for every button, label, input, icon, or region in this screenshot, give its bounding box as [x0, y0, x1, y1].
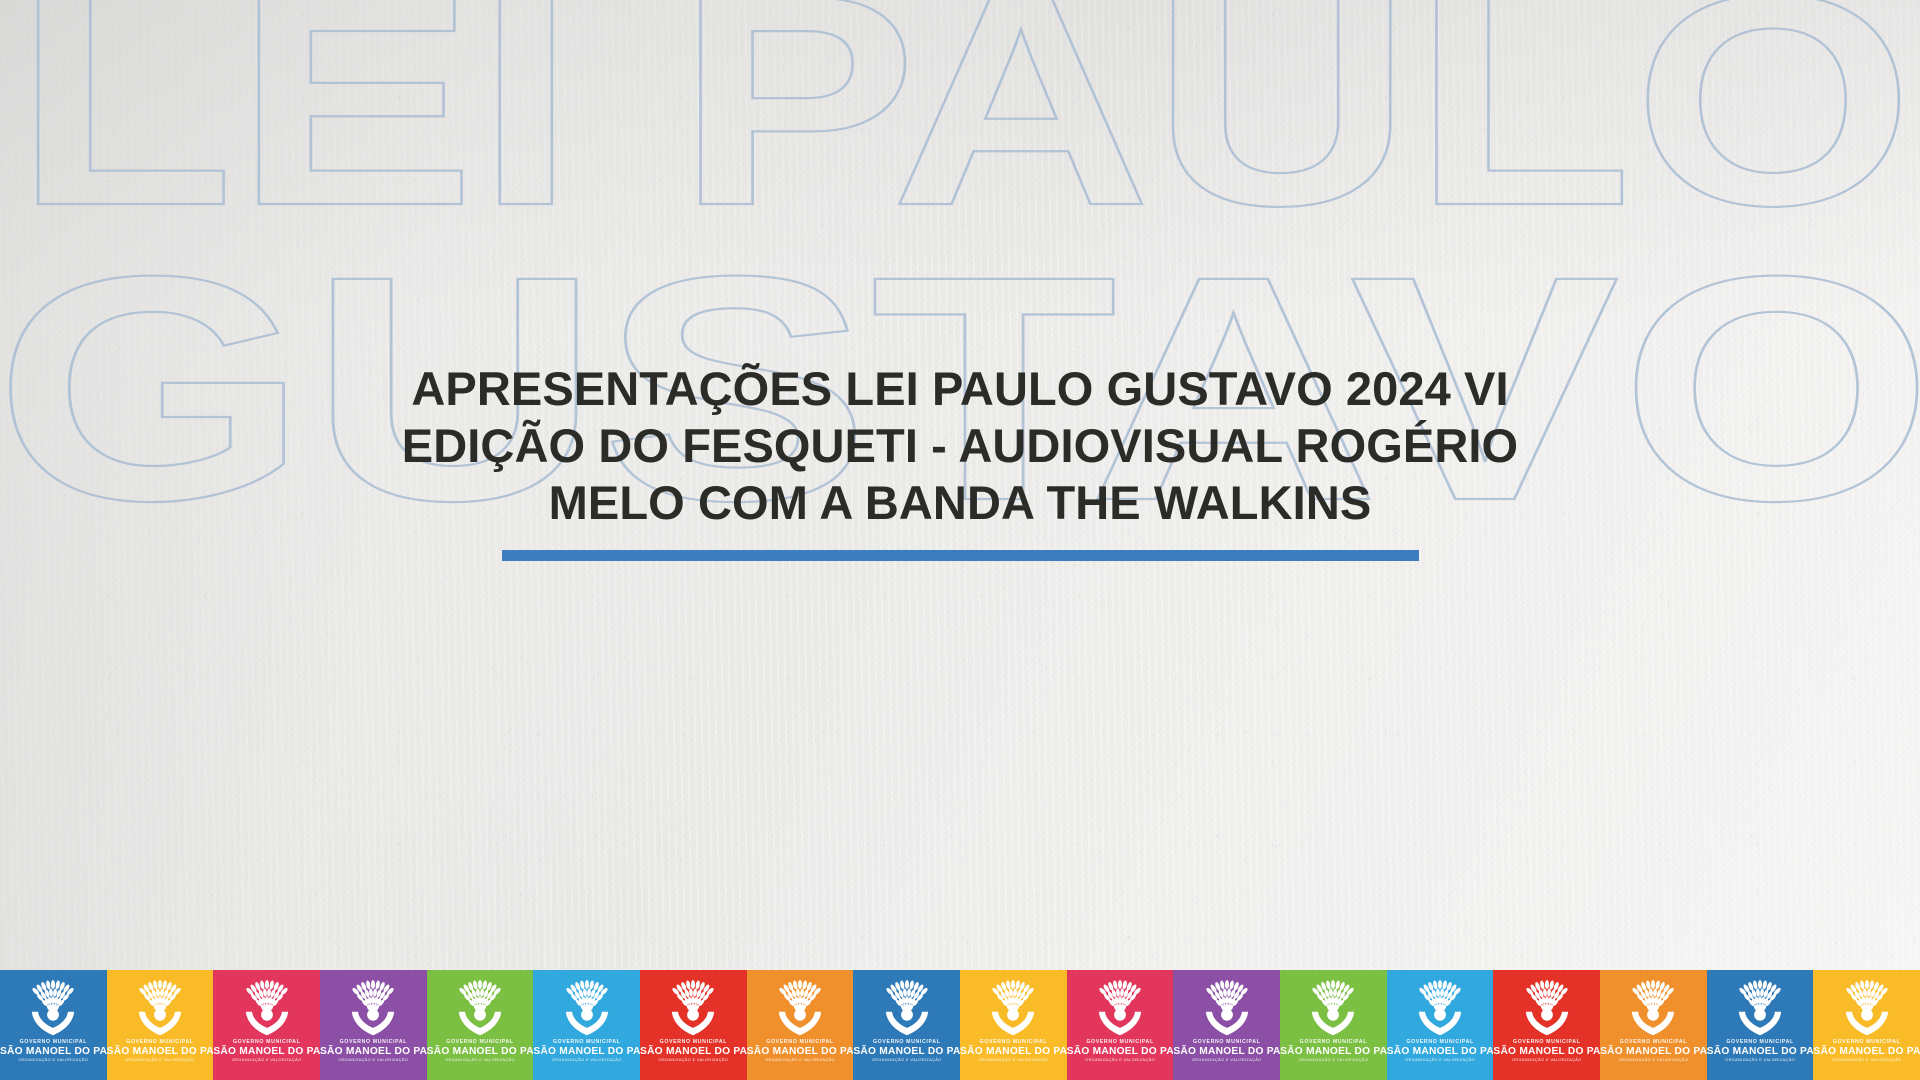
logo-caption-top: GOVERNO MUNICIPAL [533, 1040, 640, 1045]
logo-caption-top: GOVERNO MUNICIPAL [107, 1040, 214, 1045]
logo-tile: GOVERNO MUNICIPALSÃO MANOEL DO PARANÁORG… [1387, 970, 1494, 1080]
logo-caption-sub: ORGANIZAÇÃO E VALORIZAÇÃO [1173, 1058, 1280, 1062]
wheat-heart-logo-icon [342, 977, 404, 1039]
logo-caption-sub: ORGANIZAÇÃO E VALORIZAÇÃO [320, 1058, 427, 1062]
logo-caption-top: GOVERNO MUNICIPAL [0, 1040, 107, 1045]
logo-caption-top: GOVERNO MUNICIPAL [1067, 1040, 1174, 1045]
logo-caption-top: GOVERNO MUNICIPAL [853, 1040, 960, 1045]
logo-caption-top: GOVERNO MUNICIPAL [427, 1040, 534, 1045]
logo-tile: GOVERNO MUNICIPALSÃO MANOEL DO PARANÁORG… [1600, 970, 1707, 1080]
logo-caption-top: GOVERNO MUNICIPAL [320, 1040, 427, 1045]
wheat-heart-logo-icon [1196, 977, 1258, 1039]
logo-caption-sub: ORGANIZAÇÃO E VALORIZAÇÃO [1707, 1058, 1814, 1062]
logo-caption-main: SÃO MANOEL DO PARANÁ [0, 1047, 107, 1057]
logo-caption-sub: ORGANIZAÇÃO E VALORIZAÇÃO [960, 1058, 1067, 1062]
logo-caption-top: GOVERNO MUNICIPAL [1173, 1040, 1280, 1045]
logo-caption: GOVERNO MUNICIPALSÃO MANOEL DO PARANÁORG… [213, 1040, 320, 1062]
logo-caption-main: SÃO MANOEL DO PARANÁ [853, 1047, 960, 1057]
wheat-heart-logo-icon [556, 977, 618, 1039]
logo-tile: GOVERNO MUNICIPALSÃO MANOEL DO PARANÁORG… [0, 970, 107, 1080]
logo-tile: GOVERNO MUNICIPALSÃO MANOEL DO PARANÁORG… [107, 970, 214, 1080]
wheat-heart-logo-icon [1302, 977, 1364, 1039]
logo-tile: GOVERNO MUNICIPALSÃO MANOEL DO PARANÁORG… [1067, 970, 1174, 1080]
logo-caption: GOVERNO MUNICIPALSÃO MANOEL DO PARANÁORG… [1707, 1040, 1814, 1062]
logo-tile: GOVERNO MUNICIPALSÃO MANOEL DO PARANÁORG… [640, 970, 747, 1080]
logo-caption-top: GOVERNO MUNICIPAL [640, 1040, 747, 1045]
logo-caption-top: GOVERNO MUNICIPAL [1707, 1040, 1814, 1045]
wheat-heart-logo-icon [449, 977, 511, 1039]
logo-caption-main: SÃO MANOEL DO PARANÁ [1493, 1047, 1600, 1057]
logo-tile: GOVERNO MUNICIPALSÃO MANOEL DO PARANÁORG… [1707, 970, 1814, 1080]
logo-caption-main: SÃO MANOEL DO PARANÁ [533, 1047, 640, 1057]
logo-caption-sub: ORGANIZAÇÃO E VALORIZAÇÃO [0, 1058, 107, 1062]
logo-caption: GOVERNO MUNICIPALSÃO MANOEL DO PARANÁORG… [1493, 1040, 1600, 1062]
watermark-line-1: LEI PAULO [14, 0, 1914, 268]
logo-caption: GOVERNO MUNICIPALSÃO MANOEL DO PARANÁORG… [1173, 1040, 1280, 1062]
logo-caption: GOVERNO MUNICIPALSÃO MANOEL DO PARANÁORG… [1387, 1040, 1494, 1062]
logo-caption: GOVERNO MUNICIPALSÃO MANOEL DO PARANÁORG… [1067, 1040, 1174, 1062]
logo-caption-main: SÃO MANOEL DO PARANÁ [1387, 1047, 1494, 1057]
logo-tile: GOVERNO MUNICIPALSÃO MANOEL DO PARANÁORG… [213, 970, 320, 1080]
logo-tile: GOVERNO MUNICIPALSÃO MANOEL DO PARANÁORG… [853, 970, 960, 1080]
logo-caption: GOVERNO MUNICIPALSÃO MANOEL DO PARANÁORG… [960, 1040, 1067, 1062]
logo-caption-sub: ORGANIZAÇÃO E VALORIZAÇÃO [853, 1058, 960, 1062]
logo-caption-main: SÃO MANOEL DO PARANÁ [213, 1047, 320, 1057]
logo-caption-main: SÃO MANOEL DO PARANÁ [320, 1047, 427, 1057]
logo-caption: GOVERNO MUNICIPALSÃO MANOEL DO PARANÁORG… [427, 1040, 534, 1062]
logo-caption-sub: ORGANIZAÇÃO E VALORIZAÇÃO [1493, 1058, 1600, 1062]
logo-tile: GOVERNO MUNICIPALSÃO MANOEL DO PARANÁORG… [1173, 970, 1280, 1080]
title-block: APRESENTAÇÕES LEI PAULO GUSTAVO 2024 VI … [335, 360, 1585, 561]
wheat-heart-logo-icon [236, 977, 298, 1039]
logo-caption-top: GOVERNO MUNICIPAL [960, 1040, 1067, 1045]
logo-caption-main: SÃO MANOEL DO PARANÁ [1707, 1047, 1814, 1057]
logo-tile: GOVERNO MUNICIPALSÃO MANOEL DO PARANÁORG… [1493, 970, 1600, 1080]
logo-caption: GOVERNO MUNICIPALSÃO MANOEL DO PARANÁORG… [853, 1040, 960, 1062]
logo-caption-main: SÃO MANOEL DO PARANÁ [1600, 1047, 1707, 1057]
logo-caption: GOVERNO MUNICIPALSÃO MANOEL DO PARANÁORG… [1280, 1040, 1387, 1062]
page-title: APRESENTAÇÕES LEI PAULO GUSTAVO 2024 VI … [335, 360, 1585, 531]
logo-caption: GOVERNO MUNICIPALSÃO MANOEL DO PARANÁORG… [640, 1040, 747, 1062]
logo-caption-main: SÃO MANOEL DO PARANÁ [1280, 1047, 1387, 1057]
logo-strip: GOVERNO MUNICIPALSÃO MANOEL DO PARANÁORG… [0, 970, 1920, 1080]
logo-tile: GOVERNO MUNICIPALSÃO MANOEL DO PARANÁORG… [533, 970, 640, 1080]
logo-caption-main: SÃO MANOEL DO PARANÁ [747, 1047, 854, 1057]
logo-caption-sub: ORGANIZAÇÃO E VALORIZAÇÃO [747, 1058, 854, 1062]
logo-caption: GOVERNO MUNICIPALSÃO MANOEL DO PARANÁORG… [1813, 1040, 1920, 1062]
logo-tile: GOVERNO MUNICIPALSÃO MANOEL DO PARANÁORG… [960, 970, 1067, 1080]
logo-caption-top: GOVERNO MUNICIPAL [213, 1040, 320, 1045]
logo-tile: GOVERNO MUNICIPALSÃO MANOEL DO PARANÁORG… [747, 970, 854, 1080]
logo-caption-main: SÃO MANOEL DO PARANÁ [427, 1047, 534, 1057]
logo-tile: GOVERNO MUNICIPALSÃO MANOEL DO PARANÁORG… [320, 970, 427, 1080]
logo-caption: GOVERNO MUNICIPALSÃO MANOEL DO PARANÁORG… [107, 1040, 214, 1062]
wheat-heart-logo-icon [1622, 977, 1684, 1039]
logo-caption-top: GOVERNO MUNICIPAL [1600, 1040, 1707, 1045]
wheat-heart-logo-icon [876, 977, 938, 1039]
logo-caption-sub: ORGANIZAÇÃO E VALORIZAÇÃO [1813, 1058, 1920, 1062]
logo-caption-top: GOVERNO MUNICIPAL [1387, 1040, 1494, 1045]
logo-caption-sub: ORGANIZAÇÃO E VALORIZAÇÃO [640, 1058, 747, 1062]
logo-tile: GOVERNO MUNICIPALSÃO MANOEL DO PARANÁORG… [1813, 970, 1920, 1080]
logo-caption-top: GOVERNO MUNICIPAL [1813, 1040, 1920, 1045]
logo-caption-main: SÃO MANOEL DO PARANÁ [107, 1047, 214, 1057]
logo-tile: GOVERNO MUNICIPALSÃO MANOEL DO PARANÁORG… [1280, 970, 1387, 1080]
logo-caption: GOVERNO MUNICIPALSÃO MANOEL DO PARANÁORG… [747, 1040, 854, 1062]
wheat-heart-logo-icon [1516, 977, 1578, 1039]
wheat-heart-logo-icon [1836, 977, 1898, 1039]
wheat-heart-logo-icon [1409, 977, 1471, 1039]
logo-caption-main: SÃO MANOEL DO PARANÁ [960, 1047, 1067, 1057]
logo-caption-main: SÃO MANOEL DO PARANÁ [1813, 1047, 1920, 1057]
wheat-heart-logo-icon [982, 977, 1044, 1039]
title-underline-rule [502, 550, 1419, 561]
logo-caption-main: SÃO MANOEL DO PARANÁ [1173, 1047, 1280, 1057]
logo-caption: GOVERNO MUNICIPALSÃO MANOEL DO PARANÁORG… [533, 1040, 640, 1062]
logo-caption-top: GOVERNO MUNICIPAL [747, 1040, 854, 1045]
logo-caption-top: GOVERNO MUNICIPAL [1493, 1040, 1600, 1045]
logo-caption: GOVERNO MUNICIPALSÃO MANOEL DO PARANÁORG… [0, 1040, 107, 1062]
logo-caption-main: SÃO MANOEL DO PARANÁ [1067, 1047, 1174, 1057]
wheat-heart-logo-icon [662, 977, 724, 1039]
wheat-heart-logo-icon [769, 977, 831, 1039]
presentation-slide: LEI PAULO GUSTAVO APRESENTAÇÕES LEI PAUL… [0, 0, 1920, 1080]
logo-caption-top: GOVERNO MUNICIPAL [1280, 1040, 1387, 1045]
logo-caption-sub: ORGANIZAÇÃO E VALORIZAÇÃO [427, 1058, 534, 1062]
logo-caption-sub: ORGANIZAÇÃO E VALORIZAÇÃO [1280, 1058, 1387, 1062]
logo-caption-sub: ORGANIZAÇÃO E VALORIZAÇÃO [213, 1058, 320, 1062]
logo-caption-sub: ORGANIZAÇÃO E VALORIZAÇÃO [1387, 1058, 1494, 1062]
logo-caption-main: SÃO MANOEL DO PARANÁ [640, 1047, 747, 1057]
logo-caption-sub: ORGANIZAÇÃO E VALORIZAÇÃO [1600, 1058, 1707, 1062]
wheat-heart-logo-icon [1729, 977, 1791, 1039]
logo-caption-sub: ORGANIZAÇÃO E VALORIZAÇÃO [1067, 1058, 1174, 1062]
logo-tile: GOVERNO MUNICIPALSÃO MANOEL DO PARANÁORG… [427, 970, 534, 1080]
logo-caption: GOVERNO MUNICIPALSÃO MANOEL DO PARANÁORG… [320, 1040, 427, 1062]
logo-caption-sub: ORGANIZAÇÃO E VALORIZAÇÃO [107, 1058, 214, 1062]
wheat-heart-logo-icon [129, 977, 191, 1039]
wheat-heart-logo-icon [1089, 977, 1151, 1039]
logo-caption-sub: ORGANIZAÇÃO E VALORIZAÇÃO [533, 1058, 640, 1062]
logo-caption: GOVERNO MUNICIPALSÃO MANOEL DO PARANÁORG… [1600, 1040, 1707, 1062]
wheat-heart-logo-icon [22, 977, 84, 1039]
